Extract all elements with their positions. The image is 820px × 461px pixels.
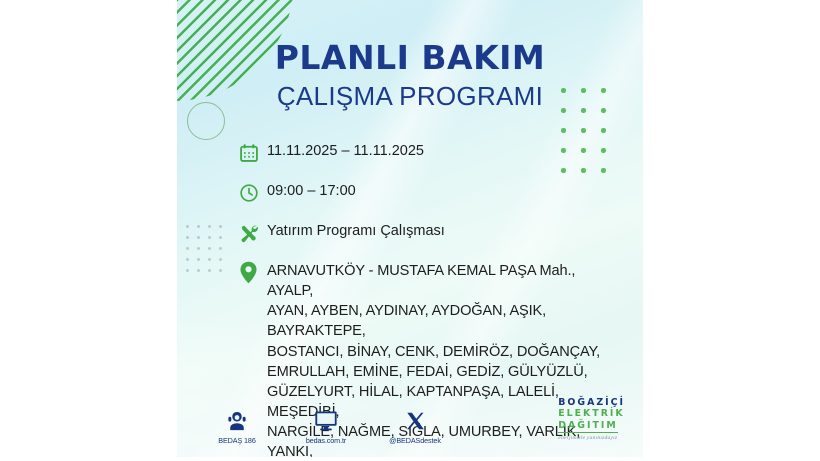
brand-line-dagitim: DAĞITIM: [558, 420, 617, 433]
brand-line-bogazici: BOĞAZİÇİ: [558, 397, 625, 408]
page-title: PLANLI BAKIM: [177, 41, 643, 74]
address-line: EMRULLAH, EMİNE, FEDAİ, GEDİZ, GÜLYÜZLÜ,: [267, 364, 588, 380]
info-row-work-type: Yatırım Programı Çalışması: [239, 221, 624, 245]
contact-channels: BEDAŞ 186 bedas.com.tr: [205, 408, 447, 445]
contact-phone[interactable]: BEDAŞ 186: [205, 408, 269, 445]
contact-website-label: bedas.com.tr: [306, 436, 346, 445]
contact-website[interactable]: bedas.com.tr: [294, 408, 358, 445]
poster-heading: PLANLI BAKIM ÇALIŞMA PROGRAMI: [177, 41, 643, 109]
dot-grid-decoration-left: [186, 225, 230, 280]
location-pin-icon: [239, 261, 267, 283]
address-line: BOSTANCI, BİNAY, CENK, DEMİRÖZ, DOĞANÇAY…: [267, 344, 600, 360]
call-center-agent-icon: [226, 408, 248, 432]
bedas-logo: BOĞAZİÇİ ELEKTRİK DAĞITIM enerjimizle ya…: [558, 397, 625, 441]
x-twitter-icon: [405, 408, 426, 432]
monitor-icon: [314, 408, 338, 432]
time-range-text: 09:00 – 17:00: [267, 181, 356, 199]
maintenance-notice-card: PLANLI BAKIM ÇALIŞMA PROGRAMI: [177, 0, 643, 457]
screenshot-canvas: PLANLI BAKIM ÇALIŞMA PROGRAMI: [0, 0, 820, 461]
tools-icon: [239, 221, 267, 245]
contact-social[interactable]: @BEDASdestek: [383, 408, 447, 445]
brand-line-elektrik: ELEKTRİK: [558, 408, 625, 419]
contact-phone-label: BEDAŞ 186: [218, 436, 255, 445]
brand-line-dagitim-wrap: DAĞITIM: [558, 420, 625, 433]
work-type-text: Yatırım Programı Çalışması: [267, 221, 445, 239]
info-row-date: 11.11.2025 – 11.11.2025: [239, 141, 624, 165]
poster-footer: BEDAŞ 186 bedas.com.tr: [197, 399, 631, 447]
address-line: ARNAVUTKÖY - MUSTAFA KEMAL PAŞA Mah., AY…: [267, 263, 575, 299]
page-subtitle: ÇALIŞMA PROGRAMI: [177, 83, 643, 109]
brand-tagline: enerjimizle yanınızdayız: [558, 435, 625, 441]
info-row-time: 09:00 – 17:00: [239, 181, 624, 205]
contact-social-label: @BEDASdestek: [389, 436, 441, 445]
address-line: AYAN, AYBEN, AYDINAY, AYDOĞAN, AŞIK, BAY…: [267, 303, 546, 339]
clock-icon: [239, 181, 267, 205]
date-range-text: 11.11.2025 – 11.11.2025: [267, 141, 424, 159]
calendar-icon: [239, 141, 267, 165]
